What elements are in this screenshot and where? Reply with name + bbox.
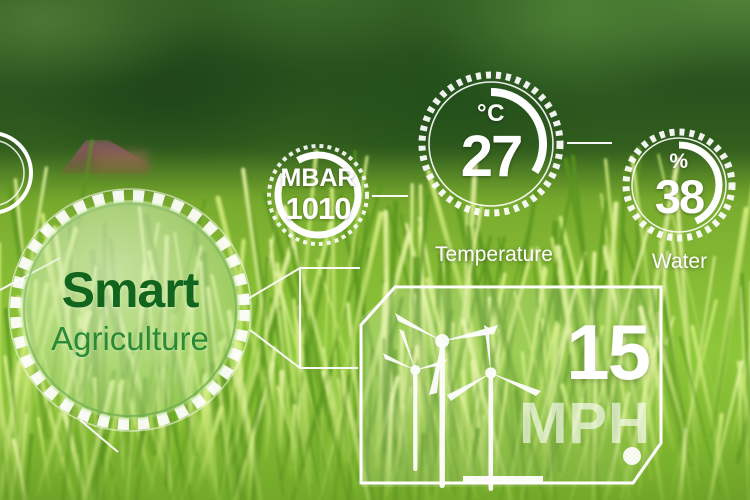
- water-gauge: % 38: [620, 126, 738, 244]
- wind-value: 15: [566, 313, 649, 391]
- brand-subtitle: Agriculture: [51, 322, 209, 355]
- temperature-label: Temperature: [429, 243, 559, 267]
- water-unit: %: [669, 151, 688, 172]
- temperature-value: 27: [461, 128, 522, 186]
- temperature-unit: °C: [477, 102, 505, 126]
- water-label: Water: [622, 250, 737, 274]
- smart-agriculture-infographic: Smart Agriculture MBAR 1010 °C 27 Temper…: [0, 0, 750, 500]
- water-value: 38: [655, 173, 703, 220]
- pressure-gauge: MBAR 1010: [264, 141, 372, 249]
- smart-agriculture-badge: Smart Agriculture: [8, 188, 252, 432]
- pressure-unit: MBAR: [281, 166, 356, 191]
- wind-unit: MPH: [519, 395, 651, 453]
- wind-panel: 15 MPH: [355, 283, 665, 495]
- pressure-value: 1010: [286, 193, 351, 224]
- brand-title: Smart: [62, 265, 199, 315]
- temperature-gauge: °C 27: [415, 68, 567, 220]
